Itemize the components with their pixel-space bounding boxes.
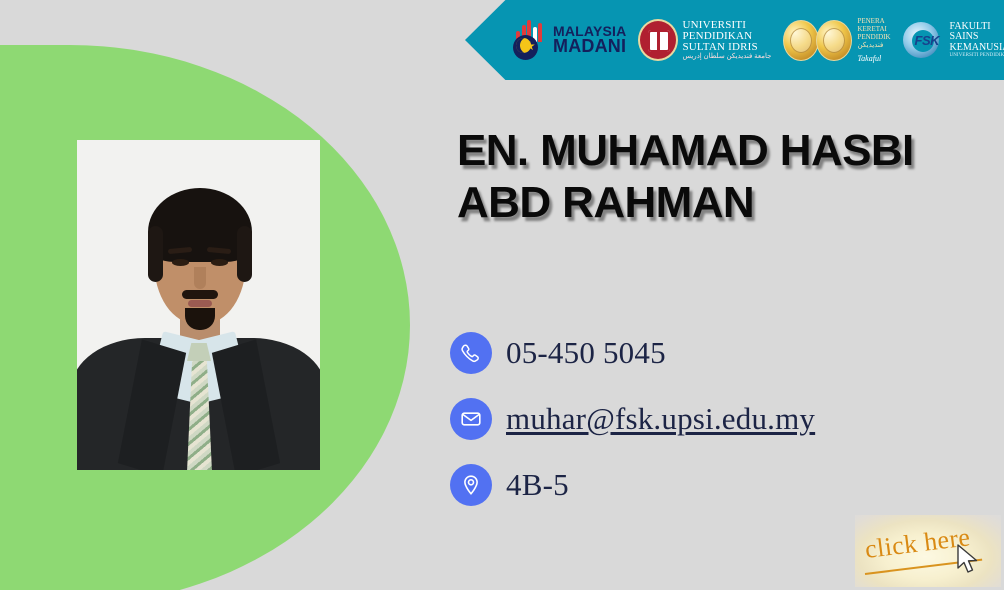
upsi-crest-icon <box>638 19 678 61</box>
malaysia-madani-wordmark: MALAYSIA MADANI <box>553 25 626 56</box>
email-link[interactable]: muhar@fsk.upsi.edu.my <box>506 401 815 437</box>
fsk-line3: KEMANUSIAAN <box>950 43 1004 54</box>
location-pin-icon <box>450 464 492 506</box>
logo-fsk: FSK FAKULTI SAINS KEMANUSIAAN UNIVERSITI… <box>903 20 1004 60</box>
medallion-line1: PENERA <box>857 17 890 25</box>
medallion-line3: PENDIDIK <box>857 33 890 41</box>
contact-list: 05-450 5045 muhar@fsk.upsi.edu.my 4B-5 <box>450 330 970 528</box>
gold-medal-icon-2 <box>816 20 852 61</box>
portrait-photo <box>77 140 320 470</box>
contact-row-phone: 05-450 5045 <box>450 330 970 376</box>
phone-icon <box>450 332 492 374</box>
malaysia-madani-line2: MADANI <box>553 38 626 55</box>
business-card: MALAYSIA MADANI UNIVERSITI PENDIDIKAN SU… <box>0 0 1004 590</box>
click-here-button[interactable]: click here <box>855 515 1001 587</box>
logo-upsi: UNIVERSITI PENDIDIKAN SULTAN IDRIS جامعة… <box>638 19 771 61</box>
upsi-wordmark: UNIVERSITI PENDIDIKAN SULTAN IDRIS جامعة… <box>682 20 771 61</box>
room-number: 4B-5 <box>506 467 569 503</box>
cursor-arrow-icon <box>955 543 981 575</box>
envelope-icon <box>450 398 492 440</box>
logo-medallion: PENERA KERETAI PENDIDIK فنديديكن Takaful <box>783 17 890 62</box>
logo-malaysia-madani: MALAYSIA MADANI <box>510 20 626 60</box>
fsk-mark-icon: FSK <box>903 20 947 60</box>
medallion-line2: KERETAI <box>857 25 890 33</box>
logo-banner: MALAYSIA MADANI UNIVERSITI PENDIDIKAN SU… <box>465 0 1004 80</box>
photo-nose <box>194 267 206 289</box>
phone-number: 05-450 5045 <box>506 335 666 371</box>
malaysia-madani-mark-icon <box>510 20 548 60</box>
photo-sideburn-right <box>237 226 252 282</box>
page-title: EN. MUHAMAD HASBI ABD RAHMAN <box>457 125 977 229</box>
photo-moustache <box>182 290 218 299</box>
photo-sideburn-left <box>148 226 163 282</box>
fsk-wordmark: FAKULTI SAINS KEMANUSIAAN UNIVERSITI PEN… <box>950 22 1004 59</box>
contact-row-location: 4B-5 <box>450 462 970 508</box>
medallion-arabic: فنديديكن <box>857 41 890 49</box>
fsk-abbreviation: FSK <box>915 33 940 48</box>
medallion-script: Takaful <box>857 54 890 63</box>
medallion-wordmark: PENERA KERETAI PENDIDIK فنديديكن Takaful <box>857 17 890 62</box>
photo-eye-left <box>172 259 189 266</box>
name-line-1: EN. MUHAMAD HASBI <box>457 125 977 177</box>
fsk-subtitle: UNIVERSITI PENDIDIKAN SULTAN IDRIS <box>950 53 1004 58</box>
name-line-2: ABD RAHMAN <box>457 177 977 229</box>
upsi-arabic: جامعة فنديديكن سلطان إدريس <box>682 53 771 60</box>
photo-eye-right <box>211 259 228 266</box>
gold-medal-icon-1 <box>783 20 819 61</box>
photo-mouth <box>188 300 212 307</box>
contact-row-email: muhar@fsk.upsi.edu.my <box>450 396 970 442</box>
